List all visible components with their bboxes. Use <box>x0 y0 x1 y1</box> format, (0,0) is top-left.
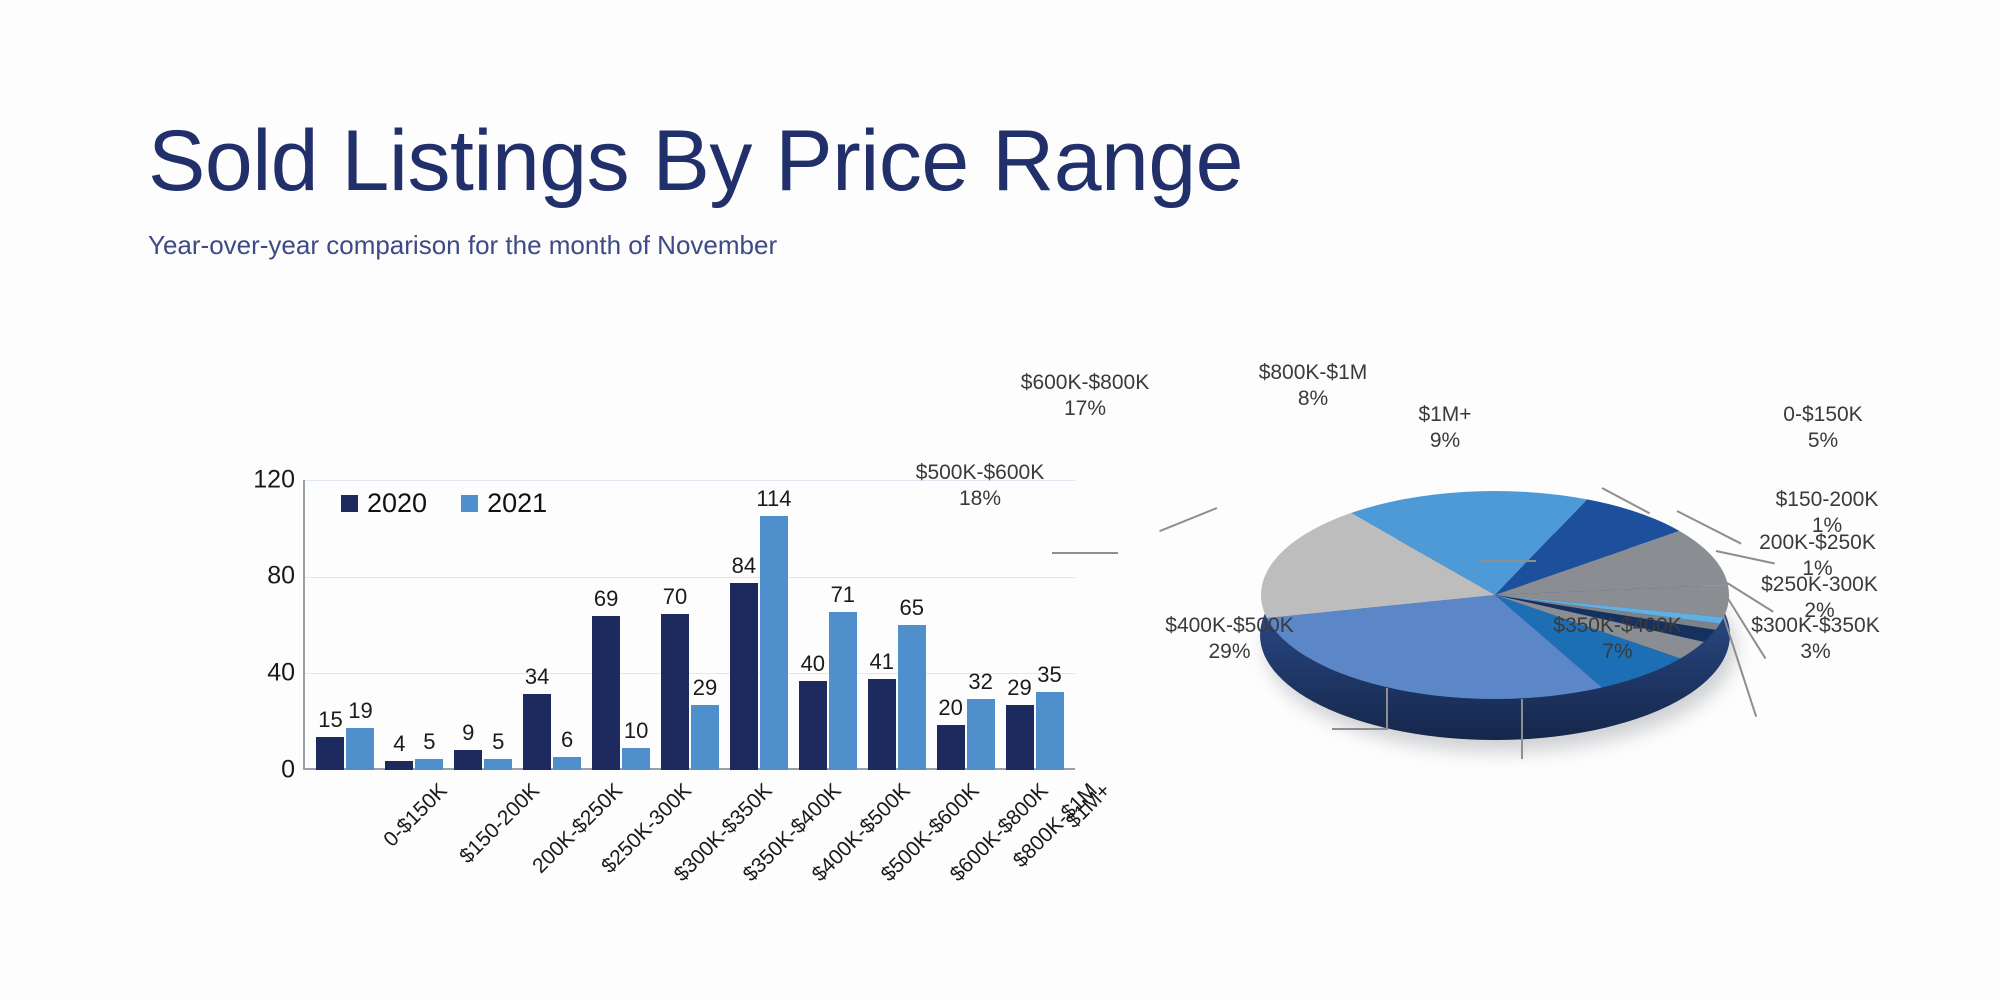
pie-label-0-150k: 0-$150K 5% <box>1728 402 1918 455</box>
pie-top-face <box>1260 490 1730 700</box>
page-title: Sold Listings By Price Range <box>148 118 1243 204</box>
bar-column[interactable]: 20 <box>937 480 965 770</box>
legend-item-2021[interactable]: 2021 <box>461 488 547 519</box>
bar-column[interactable]: 10 <box>622 480 650 770</box>
bar-value-label: 70 <box>663 584 687 610</box>
bar-column[interactable]: 19 <box>346 480 374 770</box>
bar-value-label: 40 <box>801 651 825 677</box>
bar-2021[interactable] <box>691 705 719 770</box>
bar-2020[interactable] <box>1006 705 1034 770</box>
bar-2020[interactable] <box>868 679 896 770</box>
page-subtitle: Year-over-year comparison for the month … <box>148 230 1243 261</box>
bar-value-label: 29 <box>1007 675 1031 701</box>
bar-2021[interactable] <box>346 728 374 770</box>
legend-swatch-icon <box>341 495 358 512</box>
bar-2020[interactable] <box>523 694 551 770</box>
leader-line <box>1386 688 1388 730</box>
legend-swatch-icon <box>461 495 478 512</box>
bar-2020[interactable] <box>799 681 827 770</box>
leader-line <box>1480 560 1536 562</box>
bar-2021[interactable] <box>760 516 788 770</box>
bar-value-label: 19 <box>348 698 372 724</box>
bar-column[interactable]: 9 <box>454 480 482 770</box>
bar-value-label: 69 <box>594 586 618 612</box>
bar-value-label: 84 <box>732 553 756 579</box>
pie-label-600k-800k: $600K-$800K 17% <box>990 370 1180 423</box>
bar-2020[interactable] <box>730 583 758 770</box>
bar-value-label: 29 <box>693 675 717 701</box>
bar-value-label: 32 <box>968 669 992 695</box>
bar-2021[interactable] <box>1036 692 1064 770</box>
bar-2020[interactable] <box>385 761 413 770</box>
pie-label-300k-350k: $300K-$350K 3% <box>1718 613 1913 666</box>
bar-value-label: 35 <box>1037 662 1061 688</box>
bar-column[interactable]: 41 <box>868 480 896 770</box>
y-axis-tick: 120 <box>225 466 295 495</box>
bar-column[interactable]: 5 <box>415 480 443 770</box>
bar-group: 1519 <box>311 480 380 770</box>
y-axis-tick: 0 <box>225 756 295 785</box>
bar-group: 45 <box>380 480 449 770</box>
leader-line <box>1521 699 1523 759</box>
bar-2021[interactable] <box>484 759 512 770</box>
bar-group: 2032 <box>931 480 1000 770</box>
bar-group: 4165 <box>862 480 931 770</box>
bar-value-label: 114 <box>756 486 791 512</box>
bar-group: 4071 <box>793 480 862 770</box>
bar-2021[interactable] <box>622 748 650 770</box>
bar-value-label: 5 <box>492 729 504 755</box>
bar-column[interactable]: 71 <box>829 480 857 770</box>
x-axis-label: $150-200K <box>455 779 545 869</box>
bar-column[interactable]: 5 <box>484 480 512 770</box>
bar-column[interactable]: 84 <box>730 480 758 770</box>
bar-column[interactable]: 69 <box>592 480 620 770</box>
bar-group: 2935 <box>1000 480 1069 770</box>
legend-item-2020[interactable]: 2020 <box>341 488 427 519</box>
chart-legend: 2020 2021 <box>335 487 553 520</box>
leader-line <box>1332 728 1388 730</box>
bar-column[interactable]: 4 <box>385 480 413 770</box>
bar-value-label: 5 <box>423 729 435 755</box>
header: Sold Listings By Price Range Year-over-y… <box>148 118 1243 261</box>
bar-group: 84114 <box>724 480 793 770</box>
bar-group: 346 <box>518 480 587 770</box>
bar-column[interactable]: 40 <box>799 480 827 770</box>
bar-group: 95 <box>449 480 518 770</box>
bar-column[interactable]: 65 <box>898 480 926 770</box>
y-axis-tick: 80 <box>225 562 295 591</box>
bar-group: 6910 <box>587 480 656 770</box>
bar-2021[interactable] <box>829 612 857 770</box>
bar-value-label: 6 <box>561 727 573 753</box>
bar-value-label: 41 <box>869 649 893 675</box>
bar-value-label: 34 <box>525 664 549 690</box>
bar-column[interactable]: 114 <box>760 480 788 770</box>
bar-2020[interactable] <box>592 616 620 770</box>
bar-column[interactable]: 70 <box>661 480 689 770</box>
y-axis-tick: 40 <box>225 659 295 688</box>
bar-column[interactable]: 35 <box>1036 480 1064 770</box>
bar-2021[interactable] <box>553 757 581 770</box>
pie-label-350k-400k: $350K-$400K 7% <box>1520 613 1715 666</box>
bar-value-label: 10 <box>624 718 648 744</box>
bar-column[interactable]: 32 <box>967 480 995 770</box>
legend-label: 2021 <box>487 488 547 519</box>
bar-value-label: 4 <box>393 731 405 757</box>
pie-chart: $600K-$800K 17% $500K-$600K 18% $800K-$1… <box>1150 430 1970 760</box>
bar-group: 7029 <box>656 480 725 770</box>
bar-column[interactable]: 15 <box>316 480 344 770</box>
bar-value-label: 9 <box>462 720 474 746</box>
bar-column[interactable]: 6 <box>553 480 581 770</box>
bar-column[interactable]: 34 <box>523 480 551 770</box>
bar-2020[interactable] <box>937 725 965 770</box>
bar-2021[interactable] <box>415 759 443 770</box>
legend-label: 2020 <box>367 488 427 519</box>
bar-value-label: 15 <box>318 707 342 733</box>
bar-value-label: 65 <box>899 595 923 621</box>
bar-2020[interactable] <box>454 750 482 770</box>
pie-label-1m-plus: $1M+ 9% <box>1380 402 1510 455</box>
bar-2020[interactable] <box>316 737 344 770</box>
pie-label-400k-500k: $400K-$500K 29% <box>1132 613 1327 666</box>
bar-value-label: 71 <box>831 582 855 608</box>
bar-column[interactable]: 29 <box>1006 480 1034 770</box>
leader-line <box>1159 507 1217 532</box>
y-axis-line <box>303 480 305 770</box>
leader-line <box>1052 552 1118 554</box>
bar-value-label: 20 <box>938 695 962 721</box>
bar-plot-area: 1519459534669107029841144071416520322935… <box>303 480 1075 770</box>
bar-2021[interactable] <box>898 625 926 770</box>
slide-canvas: Sold Listings By Price Range Year-over-y… <box>0 0 2000 1000</box>
bar-2020[interactable] <box>661 614 689 770</box>
pie-label-500k-600k: $500K-$600K 18% <box>885 460 1075 513</box>
bar-column[interactable]: 29 <box>691 480 719 770</box>
x-axis-label: 0-$150K <box>380 779 453 852</box>
bar-2021[interactable] <box>967 699 995 770</box>
